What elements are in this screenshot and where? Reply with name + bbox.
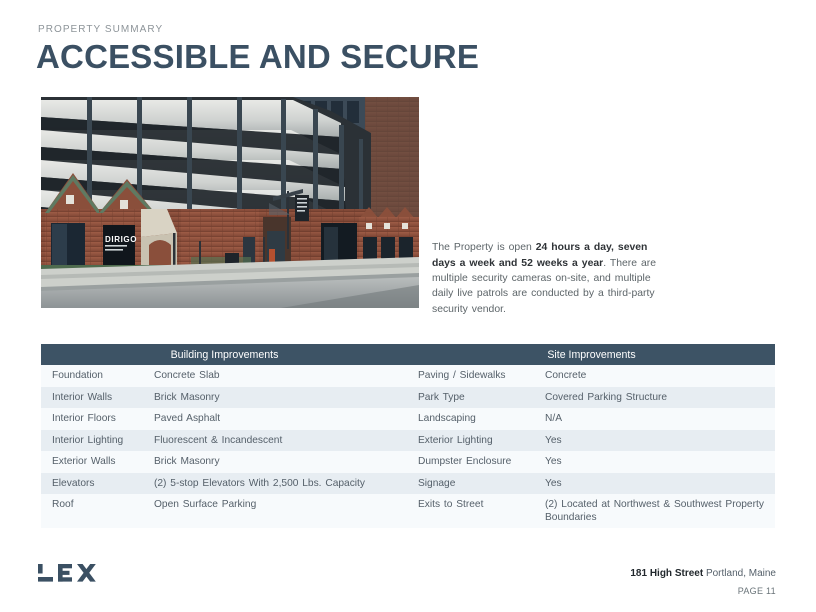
eyebrow-label: PROPERTY SUMMARY [38, 24, 163, 35]
page-number: PAGE 11 [738, 586, 776, 596]
footer-address-street: 181 High Street [630, 568, 703, 579]
row-value-building: Concrete Slab [154, 365, 408, 387]
row-label-site: Dumpster Enclosure [408, 451, 545, 473]
body-paragraph: The Property is open 24 hours a day, sev… [432, 240, 660, 316]
row-label-building: Interior Lighting [41, 430, 154, 452]
footer-address: 181 High Street Portland, Maine [630, 568, 776, 579]
row-label-building: Roof [41, 494, 154, 516]
table-row: Interior Floors Paved Asphalt Landscapin… [41, 408, 775, 430]
row-value-site: Yes [545, 430, 775, 452]
row-label-site: Exits to Street [408, 494, 545, 516]
table-row: Foundation Concrete Slab Paving / Sidewa… [41, 365, 775, 387]
row-value-building: Brick Masonry [154, 451, 408, 473]
row-label-building: Elevators [41, 473, 154, 495]
property-exterior-photo: DIRIGO [41, 97, 419, 308]
svg-text:DIRIGO: DIRIGO [105, 235, 137, 244]
table-row: Interior Lighting Fluorescent & Incandes… [41, 430, 775, 452]
lex-logo [38, 562, 108, 588]
footer-address-city: Portland, Maine [703, 568, 776, 579]
row-value-site: N/A [545, 408, 775, 430]
row-value-site: (2) Located at Northwest & Southwest Pro… [545, 494, 775, 528]
page-title: ACCESSIBLE AND SECURE [36, 38, 479, 76]
row-label-building: Foundation [41, 365, 154, 387]
table-header-site-improvements: Site Improvements [408, 349, 775, 361]
row-label-site: Park Type [408, 387, 545, 409]
table-row: Roof Open Surface Parking Exits to Stree… [41, 494, 775, 528]
row-label-site: Exterior Lighting [408, 430, 545, 452]
table-row: Elevators (2) 5-stop Elevators With 2,50… [41, 473, 775, 495]
body-lead: The Property is open [432, 242, 536, 253]
row-value-building: Fluorescent & Incandescent [154, 430, 408, 452]
row-label-site: Landscaping [408, 408, 545, 430]
row-value-building: (2) 5-stop Elevators With 2,500 Lbs. Cap… [154, 473, 408, 495]
row-label-building: Exterior Walls [41, 451, 154, 473]
row-value-site: Yes [545, 473, 775, 495]
row-value-site: Covered Parking Structure [545, 387, 775, 409]
row-label-building: Interior Floors [41, 408, 154, 430]
row-value-building: Brick Masonry [154, 387, 408, 409]
table-header-building-improvements: Building Improvements [41, 349, 408, 361]
table-header-row: Building Improvements Site Improvements [41, 344, 775, 365]
row-value-site: Yes [545, 451, 775, 473]
row-label-building: Interior Walls [41, 387, 154, 409]
row-label-site: Signage [408, 473, 545, 495]
table-row: Exterior Walls Brick Masonry Dumpster En… [41, 451, 775, 473]
row-value-building: Paved Asphalt [154, 408, 408, 430]
improvements-table: Building Improvements Site Improvements … [41, 344, 775, 528]
table-row: Interior Walls Brick Masonry Park Type C… [41, 387, 775, 409]
row-label-site: Paving / Sidewalks [408, 365, 545, 387]
row-value-building: Open Surface Parking [154, 494, 408, 516]
row-value-site: Concrete [545, 365, 775, 387]
